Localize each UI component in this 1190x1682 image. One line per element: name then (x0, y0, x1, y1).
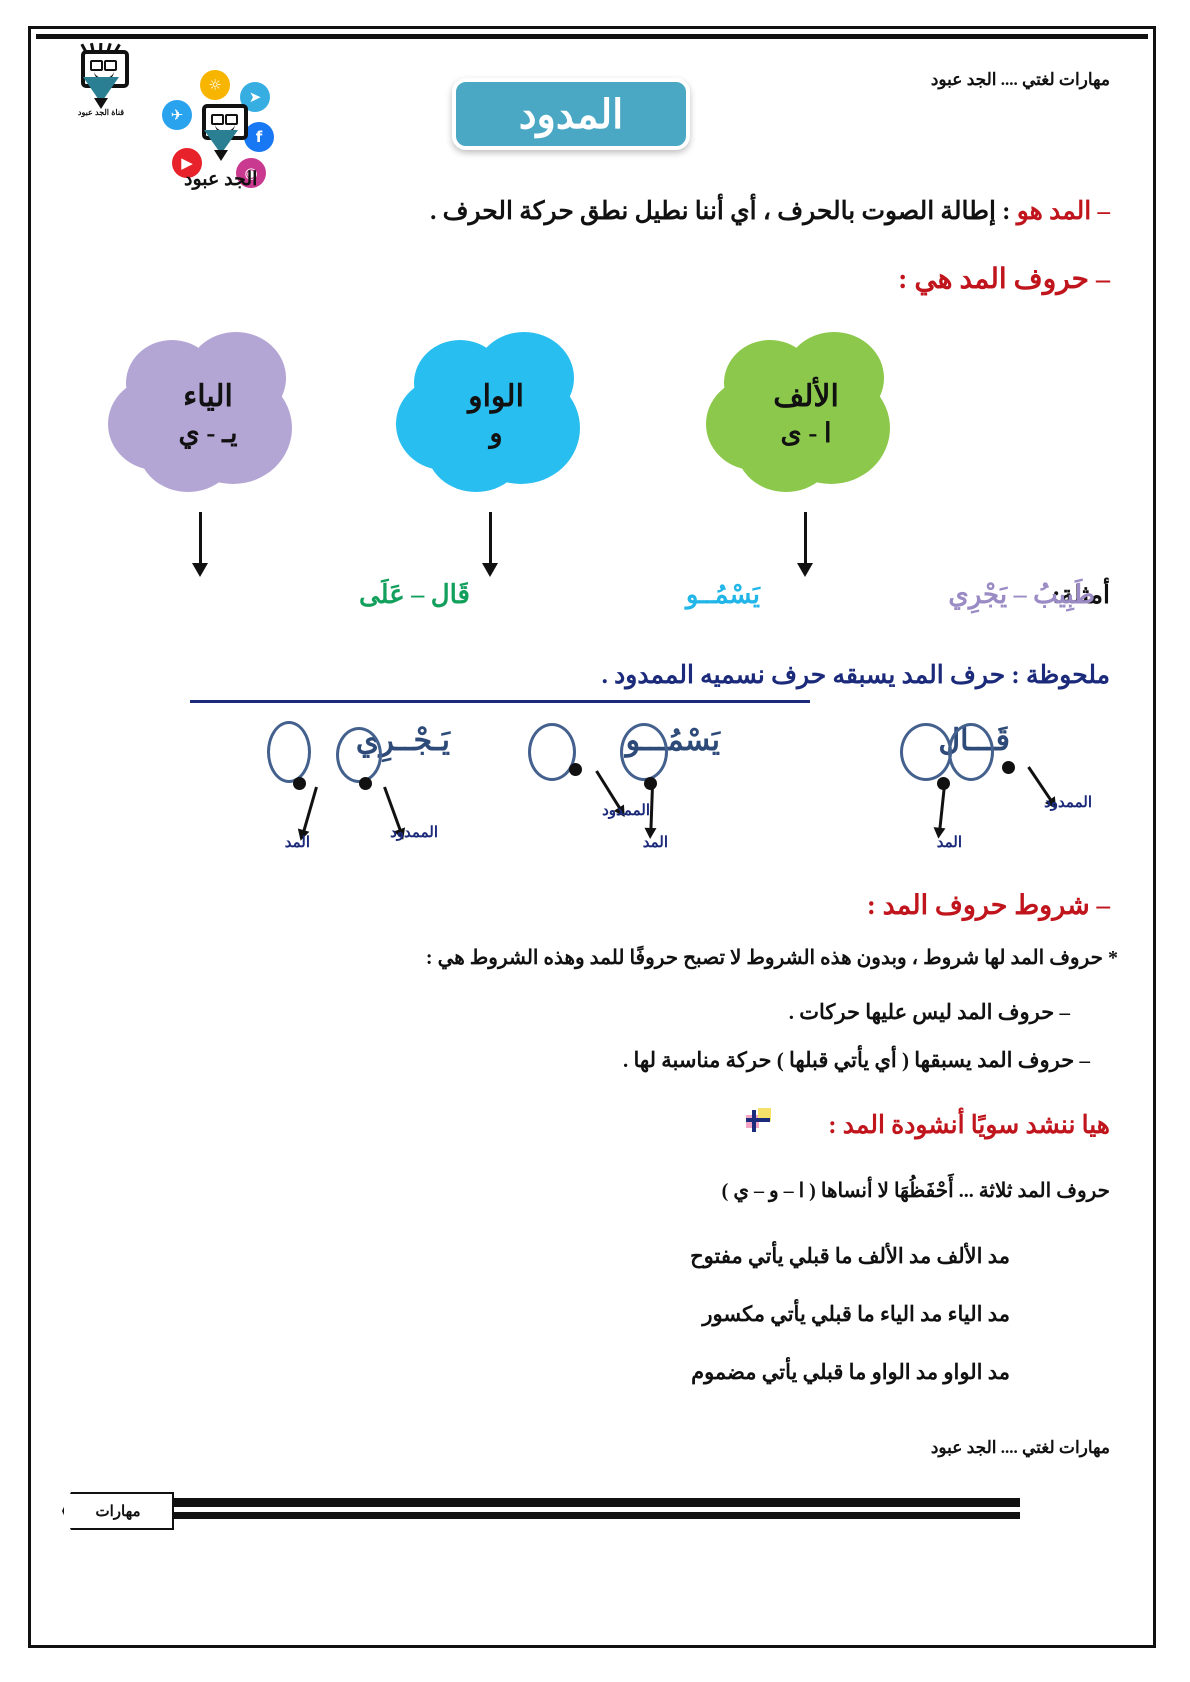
conditions-intro: * حروف المد لها شروط ، وبدون هذه الشروط … (426, 945, 1118, 970)
cloud-ya-forms: يـ - ي (178, 416, 237, 451)
circle-mamdud-yajri (336, 727, 382, 783)
song-line-0: حروف المد ثلاثة ... أَحْفَظُهَا لا أنساه… (722, 1178, 1110, 1203)
dot-mamdud-yajri (359, 777, 372, 790)
song-line-2: مد الياء مد الياء ما قبلي يأتي مكسور (702, 1302, 1010, 1327)
tag-mamdud-yajri: الممدود (390, 823, 438, 842)
footer-tab: مهارات (62, 1492, 174, 1530)
arrow-waw (489, 512, 492, 564)
tag-mad-yajri: المد (285, 833, 310, 852)
dot-mamdud-yasmu (569, 763, 582, 776)
cloud-ya-title: الياء (178, 378, 237, 416)
song-line-3: مد الواو مد الواو ما قبلي يأتي مضموم (691, 1360, 1010, 1385)
brand-caption: قناة الجد عبود (78, 108, 124, 117)
page-title-box: المدود (452, 78, 690, 150)
leader-mad-qal (938, 785, 946, 829)
dot-mamdud-qal (1002, 761, 1015, 774)
brand-logo: قناة الجد عبود (62, 44, 140, 132)
circle-mad-yajri (267, 721, 311, 783)
header-note: مهارات لغتي .... الجد عبود (931, 70, 1110, 90)
example-ya: طَبِيبُ – يَجْرِي (948, 580, 1095, 610)
leader-mad-yasmu (649, 785, 654, 829)
eye-right-icon (104, 60, 117, 71)
snapchat-icon[interactable]: ☼ (200, 70, 230, 100)
cloud-ya: الياء يـ - ي (108, 332, 308, 497)
tag-mad-yasmu: المد (643, 833, 668, 852)
tag-mamdud-yasmu: الممدود (602, 801, 650, 820)
song-bullet-icon (746, 1108, 772, 1134)
circle-mad-qal (948, 723, 994, 781)
arrow-ya (199, 512, 202, 564)
cloud-waw: الواو و (396, 332, 596, 497)
analysis-diagram: قَـــال الممدود المد يَسْمُـــو المد الم… (0, 715, 1190, 855)
cloud-alef-title: الألف (773, 378, 839, 416)
cloud-alef: الألف ا - ى (706, 332, 906, 497)
pencil-mascot-icon (73, 44, 129, 106)
note-text: ملحوظة : حرف المد يسبقه حرف نسميه الممدو… (602, 660, 1110, 690)
definition-keyword: – المد هو (1017, 198, 1110, 225)
channel-name: الجد عبود (184, 168, 257, 191)
definition-rest: : إطالة الصوت بالحرف ، أي أننا نطيل نطق … (430, 198, 1017, 225)
dot-mad-yajri (293, 777, 306, 790)
eye-left-icon (90, 60, 103, 71)
circle-mamdud-qal (900, 723, 952, 781)
note-underline (190, 700, 810, 703)
condition-item-1: – حروف المد ليس عليها حركات . (789, 1000, 1070, 1025)
leader-mad-yajri (302, 787, 318, 832)
cloud-waw-title: الواو (468, 378, 524, 416)
example-alef: قَال – عَلَى (359, 580, 470, 610)
song-heading: هيا ننشد سويًا أنشودة المد : (828, 1110, 1110, 1140)
footer-note: مهارات لغتي .... الجد عبود (931, 1438, 1110, 1458)
condition-item-2: – حروف المد يسبقها ( أي يأتي قبلها ) حرك… (623, 1048, 1090, 1073)
pencil-tip-icon (214, 150, 228, 161)
facebook-icon[interactable]: f (244, 122, 274, 152)
top-rule (36, 34, 1148, 39)
social-media-cluster: ☼ ➤ ✈ f ▶ ◉ الجد عبود (148, 70, 288, 200)
footer-bars (150, 1498, 1020, 1524)
definition-line: – المد هو : إطالة الصوت بالحرف ، أي أننا… (430, 196, 1110, 226)
page-title: المدود (519, 91, 624, 138)
cloud-waw-forms: و (468, 416, 524, 451)
song-line-1: مد الألف مد الألف ما قبلي يأتي مفتوح (690, 1244, 1010, 1269)
tag-mamdud-qal: الممدود (1044, 793, 1092, 812)
letters-heading: – حروف المد هي : (898, 262, 1110, 296)
conditions-heading: – شروط حروف المد : (867, 890, 1110, 921)
cloud-alef-forms: ا - ى (773, 416, 839, 451)
pencil-tip-icon (94, 98, 108, 109)
example-waw: يَسْمُــو (686, 580, 760, 610)
arrow-alef (804, 512, 807, 564)
circle-mamdud-yasmu (620, 723, 668, 781)
pencil-mascot-center-icon (198, 98, 246, 158)
tag-mad-qal: المد (937, 833, 962, 852)
twitter-icon[interactable]: ✈ (162, 100, 192, 130)
